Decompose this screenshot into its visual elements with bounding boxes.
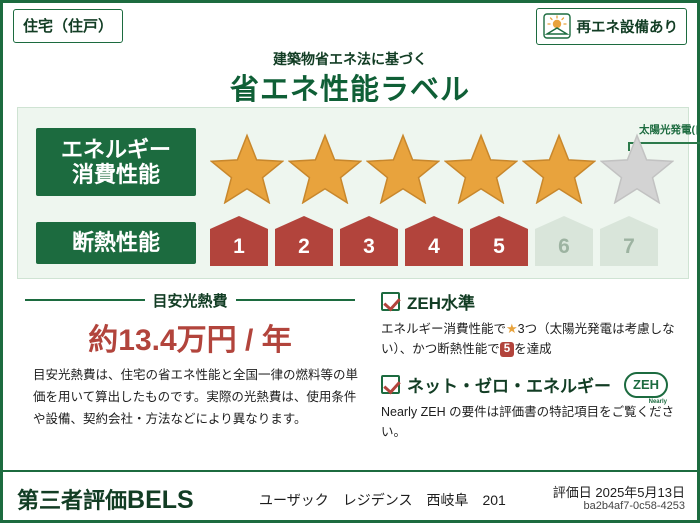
zeh-standard-title: ZEH水準 [407, 289, 475, 314]
insulation-grade-6: 6 [535, 216, 593, 266]
grade-number: 5 [493, 235, 505, 259]
zeh-standard-check-row: ZEH水準 [381, 289, 681, 314]
star-icon-4 [444, 132, 518, 204]
energy-label-line2: 消費性能 [72, 162, 160, 187]
insulation-grade-1: 1 [210, 216, 268, 266]
cost-title-row: 目安光熱費 [25, 291, 355, 309]
sun-icon [543, 13, 571, 39]
renewable-equipment-label: 再エネ設備あり [577, 16, 679, 37]
star-icon-2 [288, 132, 362, 204]
zeh-desc-pre: エネルギー消費性能で [381, 322, 506, 336]
renewable-equipment-badge: 再エネ設備あり [536, 8, 688, 45]
grade-number: 3 [363, 235, 375, 259]
star-icon-1 [210, 132, 284, 204]
star-icon-5 [522, 132, 596, 204]
grade-number: 2 [298, 235, 310, 259]
energy-label-line1: エネルギー [61, 137, 171, 162]
house-type-badge: 住宅（住戸） [13, 9, 123, 43]
insulation-grade-7: 7 [600, 216, 658, 266]
cost-note: 目安光熱費は、住宅の省エネ性能と全国一律の燃料等の単価を用いて算出したものです。… [33, 365, 363, 431]
property-address: ユーザック レジデンス 西岐阜 201 [259, 490, 506, 510]
inline-grade-badge: 5 [500, 342, 514, 357]
net-zero-check-row: ネット・ゼロ・エネルギー ZEH Nearly [381, 372, 681, 398]
energy-performance-label: 住宅（住戸） 再エネ設備あり 建築物省エネ法に [0, 0, 700, 523]
grade-number: 4 [428, 235, 440, 259]
performance-panel: エネルギー 消費性能 太陽光発電(自家消費)分 断熱性能 1234567 [17, 107, 689, 279]
grade-number: 1 [233, 235, 245, 259]
top-row: 住宅（住戸） 再エネ設備あり [3, 3, 697, 49]
star-rating: 太陽光発電(自家消費)分 [210, 120, 680, 206]
evaluator-prefix: 第三者評価 [17, 488, 127, 513]
cost-title: 目安光熱費 [153, 290, 228, 311]
insulation-grade-5: 5 [470, 216, 528, 266]
grade-number: 7 [623, 235, 635, 259]
evaluator-mark: 第三者評価BELS [17, 483, 194, 515]
criteria-block: ZEH水準 エネルギー消費性能で★3つ（太陽光発電は考慮しない）、かつ断熱性能で… [381, 289, 681, 442]
insulation-row-label: 断熱性能 [36, 222, 196, 264]
zeh-standard-desc: エネルギー消費性能で★3つ（太陽光発電は考慮しない）、かつ断熱性能で5を達成 [381, 318, 681, 360]
cost-rule-right [236, 299, 356, 301]
zeh-desc-post: を達成 [514, 342, 552, 356]
star-icon-3 [366, 132, 440, 204]
footer: 第三者評価BELS ユーザック レジデンス 西岐阜 201 評価日 2025年5… [3, 470, 697, 520]
zeh-mark-icon: ZEH Nearly [624, 372, 668, 398]
insulation-grade-scale: 1234567 [210, 216, 680, 270]
net-zero-title: ネット・ゼロ・エネルギー [407, 372, 611, 397]
insulation-grade-2: 2 [275, 216, 333, 266]
evaluation-date: 評価日 2025年5月13日 [553, 482, 685, 501]
insulation-grade-4: 4 [405, 216, 463, 266]
checkbox-checked-icon-2 [381, 375, 400, 394]
zeh-mark-sub: Nearly [648, 399, 668, 405]
grade-number: 6 [558, 235, 570, 259]
bels-logo-text: BELS [127, 486, 194, 514]
label-code: ba2b4af7-0c58-4253 [583, 500, 685, 512]
checkbox-checked-icon [381, 292, 400, 311]
star-icon-6 [600, 132, 674, 204]
cost-rule-left [25, 299, 145, 301]
energy-performance-row-label: エネルギー 消費性能 [36, 128, 196, 196]
page-title: 省エネ性能ラベル [3, 66, 697, 108]
zeh-mark-text: ZEH [633, 377, 659, 392]
cost-value: 約13.4万円 / 年 [25, 315, 355, 359]
insulation-grade-3: 3 [340, 216, 398, 266]
inline-star-icon: ★ [506, 321, 518, 336]
net-zero-desc: Nearly ZEH の要件は評価書の特記項目をご覧ください。 [381, 402, 681, 443]
insulation-label-line1: 断熱性能 [72, 230, 160, 255]
